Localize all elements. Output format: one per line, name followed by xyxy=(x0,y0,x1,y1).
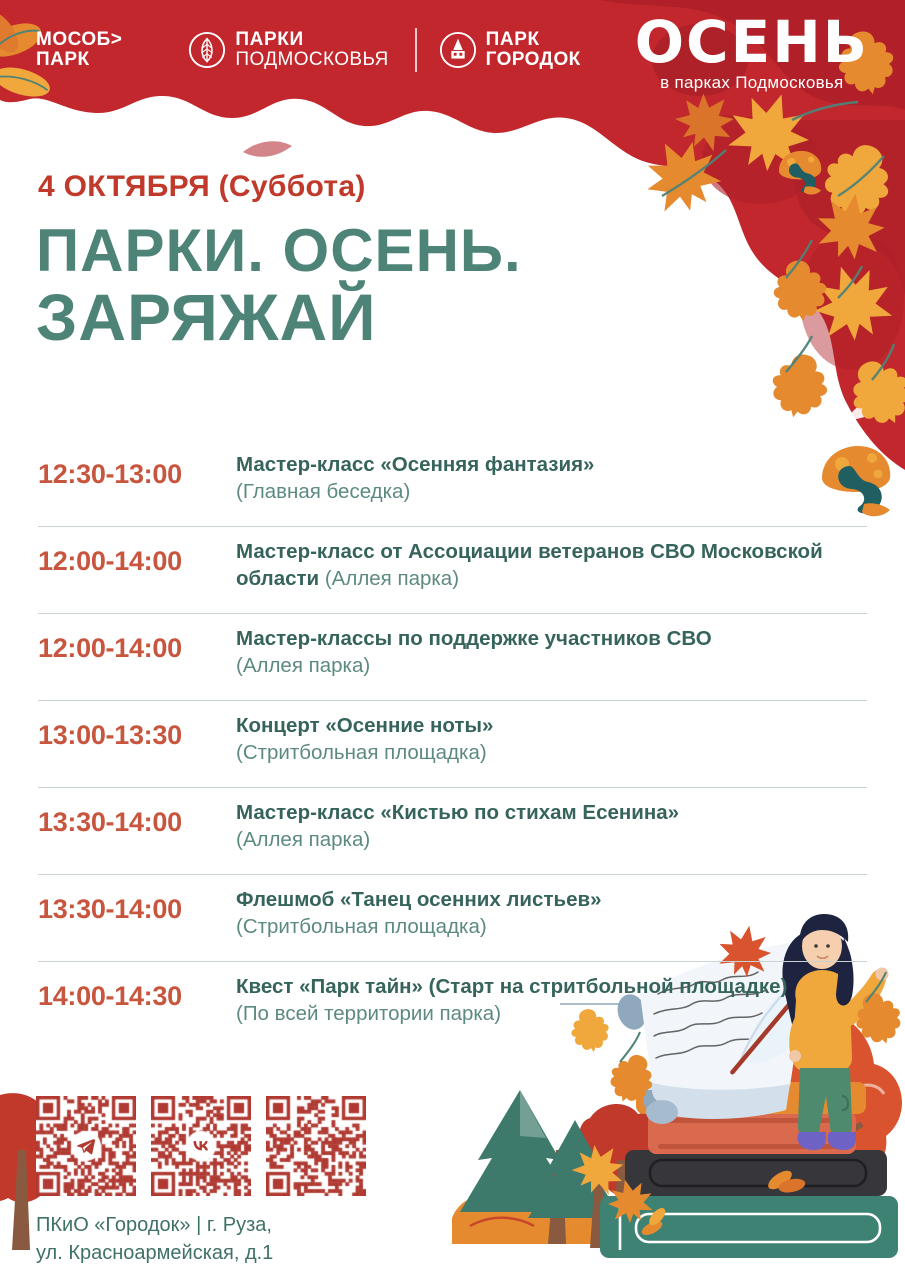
qr-code-group xyxy=(36,1096,366,1196)
qr-vk[interactable] xyxy=(151,1096,251,1196)
venue-address: ПКиО «Городок» | г. Руза, ул. Красноарме… xyxy=(36,1212,273,1267)
telegram-icon xyxy=(72,1132,100,1160)
schedule-event: Мастер-класс «Осенняя фантазия» xyxy=(236,452,875,479)
qr-telegram[interactable] xyxy=(36,1096,136,1196)
schedule-location: (Стритбольная площадка) xyxy=(236,914,875,941)
logo-parki-podmoskovya[interactable]: ПАРКИ ПОДМОСКОВЬЯ xyxy=(188,30,388,69)
schedule-row: 13:30-14:00Флешмоб «Танец осенних листье… xyxy=(0,887,905,949)
book-stack xyxy=(600,1082,898,1258)
schedule-separator xyxy=(38,700,867,701)
schedule-event: Квест «Парк тайн» (Старт на стритбольной… xyxy=(236,974,875,1001)
schedule-event: Мастер-класс от Ассоциации ветеранов СВО… xyxy=(236,539,875,592)
schedule-separator xyxy=(38,526,867,527)
page-title-line1: ПАРКИ. ОСЕНЬ. xyxy=(36,217,522,284)
schedule-event: Мастер-класс «Кистью по стихам Есенина» xyxy=(236,800,875,827)
schedule-time: 12:00-14:00 xyxy=(38,626,236,688)
brand-osen: ОСЕНЬ в парках Подмосковья xyxy=(635,14,869,93)
schedule-separator xyxy=(38,787,867,788)
schedule-time: 13:00-13:30 xyxy=(38,713,236,775)
brand-word: ОСЕНЬ xyxy=(635,14,869,71)
logo-gorodok-line2: ГОРОДОК xyxy=(486,50,581,70)
schedule-time: 14:00-14:30 xyxy=(38,974,236,1036)
logo-mosobl-park[interactable]: МОСОБ> ПАРК xyxy=(36,30,122,70)
schedule-info: Мастер-класс от Ассоциации ветеранов СВО… xyxy=(236,539,905,601)
schedule-separator xyxy=(38,961,867,962)
pavilion-badge-icon xyxy=(439,31,477,69)
schedule-row: 13:00-13:30Концерт «Осенние ноты»(Стритб… xyxy=(0,713,905,775)
schedule-info: Мастер-класс «Кистью по стихам Есенина»(… xyxy=(236,800,905,862)
bush-dark-red xyxy=(580,1104,674,1250)
schedule-time: 13:30-14:00 xyxy=(38,887,236,949)
schedule-separator xyxy=(38,613,867,614)
tree-red-right xyxy=(736,1008,902,1250)
qr-site[interactable] xyxy=(266,1096,366,1196)
schedule-location: (Главная беседка) xyxy=(236,479,875,506)
event-date: 4 ОКТЯБРЯ (Суббота) xyxy=(38,170,366,204)
logo-mosobl-line1: МОСОБ> xyxy=(36,30,122,50)
schedule-location: (Стритбольная площадка) xyxy=(236,740,875,767)
schedule-time: 12:00-14:00 xyxy=(38,539,236,601)
logo-park-gorodok[interactable]: ПАРК ГОРОДОК xyxy=(439,30,581,69)
schedule-row: 12:00-14:00Мастер-классы по поддержке уч… xyxy=(0,626,905,688)
schedule-info: Концерт «Осенние ноты»(Стритбольная площ… xyxy=(236,713,905,775)
brand-subtitle: в парках Подмосковья xyxy=(635,73,869,93)
logo-gorodok-line1: ПАРК xyxy=(486,30,581,50)
page-title: ПАРКИ. ОСЕНЬ. ЗАРЯЖАЙ xyxy=(36,222,522,349)
schedule-info: Флешмоб «Танец осенних листьев»(Стритбол… xyxy=(236,887,905,949)
schedule-event: Мастер-классы по поддержке участников СВ… xyxy=(236,626,875,653)
shrub-orange xyxy=(452,1190,620,1244)
schedule-location: (Аллея парка) xyxy=(236,653,875,680)
logo-divider xyxy=(415,28,417,72)
page-title-line2: ЗАРЯЖАЙ xyxy=(36,285,522,350)
logo-mosobl-line2: ПАРК xyxy=(36,50,122,70)
schedule-info: Мастер-классы по поддержке участников СВ… xyxy=(236,626,905,688)
logo-parki-line2: ПОДМОСКОВЬЯ xyxy=(235,50,388,70)
schedule-row: 14:00-14:30Квест «Парк тайн» (Старт на с… xyxy=(0,974,905,1036)
schedule-list: 12:30-13:00Мастер-класс «Осенняя фантази… xyxy=(0,452,905,1036)
schedule-info: Мастер-класс «Осенняя фантазия»(Главная … xyxy=(236,452,905,514)
schedule-time: 12:30-13:00 xyxy=(38,452,236,514)
schedule-row: 12:30-13:00Мастер-класс «Осенняя фантази… xyxy=(0,452,905,514)
logo-parki-line1: ПАРКИ xyxy=(235,30,388,50)
schedule-location-inline: (Аллея парка) xyxy=(319,567,459,590)
schedule-separator xyxy=(38,874,867,875)
venue-line2: ул. Красноармейская, д.1 xyxy=(36,1240,273,1268)
schedule-event: Концерт «Осенние ноты» xyxy=(236,713,875,740)
fir-trees xyxy=(460,1090,622,1248)
schedule-event: Флешмоб «Танец осенних листьев» xyxy=(236,887,875,914)
schedule-location: (По всей территории парка) xyxy=(236,1001,875,1028)
schedule-time: 13:30-14:00 xyxy=(38,800,236,862)
venue-line1: ПКиО «Городок» | г. Руза, xyxy=(36,1212,273,1240)
schedule-row: 12:00-14:00Мастер-класс от Ассоциации ве… xyxy=(0,539,905,601)
schedule-info: Квест «Парк тайн» (Старт на стритбольной… xyxy=(236,974,905,1036)
schedule-location: (Аллея парка) xyxy=(236,827,875,854)
schedule-row: 13:30-14:00 Мастер-класс «Кистью по стих… xyxy=(0,800,905,862)
leaf-badge-icon xyxy=(188,31,226,69)
vk-icon xyxy=(187,1132,215,1160)
